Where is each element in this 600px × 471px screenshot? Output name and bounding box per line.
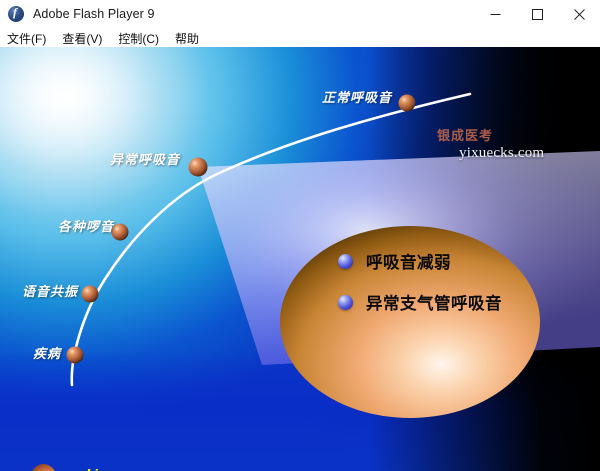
bullet-text-1: 呼吸音减弱 bbox=[366, 249, 451, 273]
bullet-sphere-icon bbox=[338, 295, 353, 310]
bullet-item-2: 异常支气管呼吸音 bbox=[338, 290, 502, 314]
bullet-sphere-icon bbox=[338, 254, 353, 269]
node-label-normal-breath: 正常呼吸音 bbox=[322, 87, 392, 106]
window-controls bbox=[474, 0, 600, 28]
menu-item-view[interactable]: 查看(V) bbox=[62, 30, 102, 47]
menu-item-control[interactable]: 控制(C) bbox=[118, 30, 159, 47]
watermark-url: yixuecks.com bbox=[459, 145, 544, 162]
title-bar[interactable]: Adobe Flash Player 9 bbox=[0, 0, 600, 28]
bullet-text-2: 异常支气管呼吸音 bbox=[366, 290, 502, 314]
flash-stage[interactable]: 正常呼吸音 异常呼吸音 各种啰音 语音共振 疾病 银成医考 yixuecks.c… bbox=[0, 47, 600, 471]
node-dot-rales[interactable] bbox=[112, 224, 129, 241]
flash-player-window: Adobe Flash Player 9 文件(F) 查看(V) 控制(C) 帮… bbox=[0, 0, 600, 471]
window-title: Adobe Flash Player 9 bbox=[33, 7, 155, 21]
node-dot-disease[interactable] bbox=[67, 347, 84, 364]
skip-button[interactable]: skip bbox=[78, 467, 106, 471]
minimize-icon[interactable] bbox=[474, 0, 516, 28]
slide-vector-art bbox=[0, 47, 600, 471]
menu-item-file[interactable]: 文件(F) bbox=[7, 30, 46, 47]
node-dot-vocal-resonance[interactable] bbox=[82, 286, 99, 303]
close-icon[interactable] bbox=[558, 0, 600, 28]
node-dot-abnormal-breath[interactable] bbox=[189, 158, 208, 177]
menu-item-help[interactable]: 帮助 bbox=[175, 30, 199, 47]
node-dot-normal-breath[interactable] bbox=[399, 95, 416, 112]
maximize-icon[interactable] bbox=[516, 0, 558, 28]
node-label-disease: 疾病 bbox=[33, 343, 61, 362]
node-label-vocal-resonance: 语音共振 bbox=[22, 281, 78, 300]
bullet-item-1: 呼吸音减弱 bbox=[338, 249, 451, 273]
menu-bar: 文件(F) 查看(V) 控制(C) 帮助 bbox=[0, 28, 600, 48]
node-label-rales: 各种啰音 bbox=[58, 216, 114, 235]
watermark-brand: 银成医考 bbox=[437, 125, 493, 144]
node-label-abnormal-breath: 异常呼吸音 bbox=[110, 149, 180, 168]
flash-logo-icon bbox=[8, 6, 24, 22]
